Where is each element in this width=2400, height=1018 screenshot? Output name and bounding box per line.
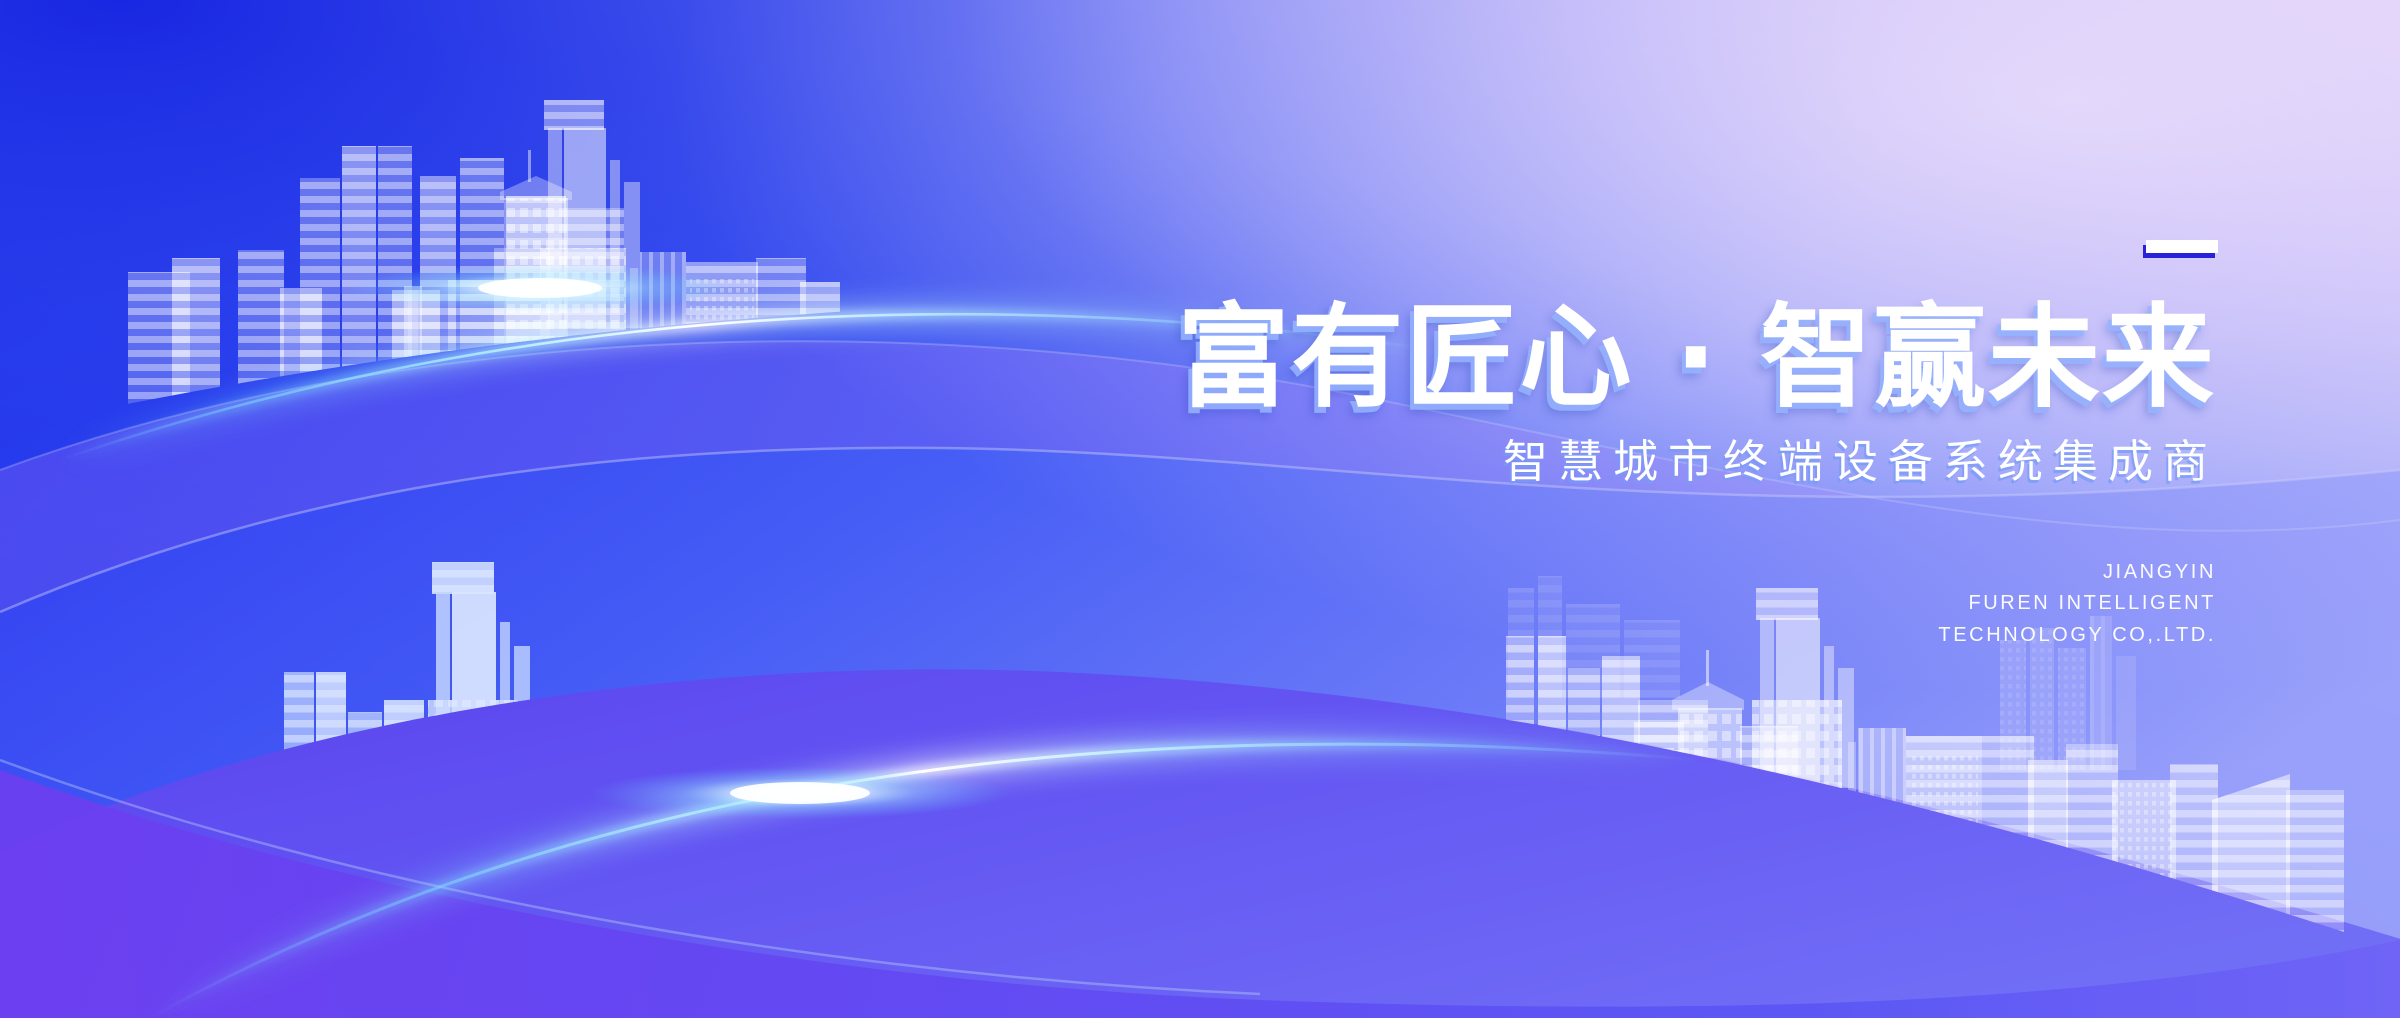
headline-block: 富有匠心 · 智赢未来 智慧城市终端设备系统集成商 JIANGYIN FUREN… — [1040, 240, 2220, 652]
company-line-1: JIANGYIN — [1040, 557, 2216, 589]
page-title: 富有匠心 · 智赢未来 — [1040, 301, 2220, 415]
company-line-3: TECHNOLOGY CO,.LTD. — [1040, 620, 2216, 652]
company-name-en: JIANGYIN FUREN INTELLIGENT TECHNOLOGY CO… — [1040, 557, 2220, 652]
banner-canvas: 富有匠心 · 智赢未来 智慧城市终端设备系统集成商 JIANGYIN FUREN… — [0, 0, 2400, 1018]
page-subtitle: 智慧城市终端设备系统集成商 — [1040, 437, 2220, 487]
horizontal-dash-icon — [2146, 240, 2218, 253]
company-line-2: FUREN INTELLIGENT — [1040, 588, 2216, 620]
